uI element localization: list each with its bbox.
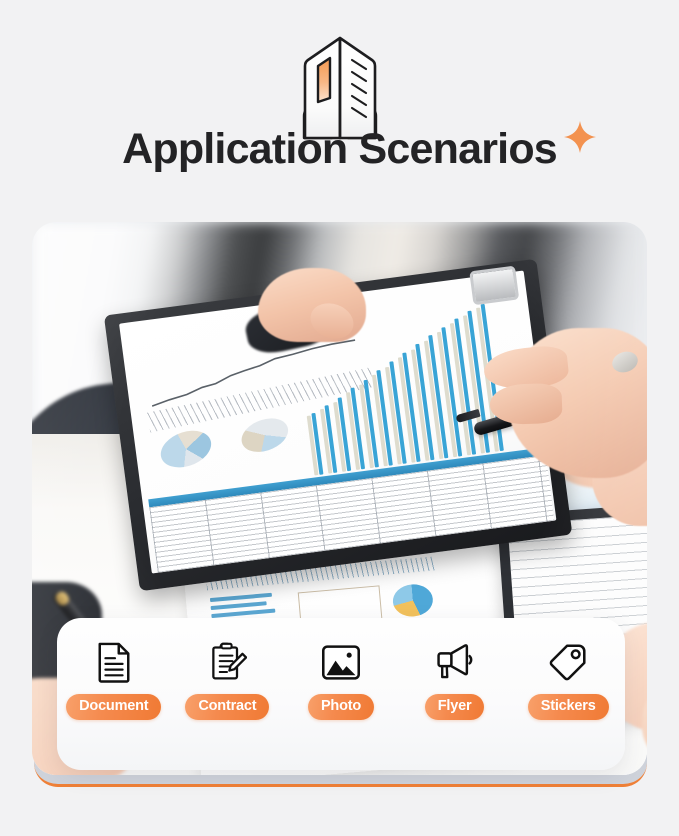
clipboard-pen-icon	[205, 640, 249, 684]
page-root: Application Scenarios	[0, 0, 679, 836]
tag-icon	[546, 640, 590, 684]
features-row: Document	[57, 640, 625, 720]
features-card: Document	[57, 618, 625, 770]
feature-label-photo[interactable]: Photo	[308, 694, 374, 720]
image-icon	[319, 640, 363, 684]
feature-label-stickers[interactable]: Stickers	[528, 694, 609, 720]
document-icon	[92, 640, 136, 684]
clipboard-pie-b	[238, 413, 291, 458]
feature-document[interactable]: Document	[62, 640, 166, 720]
clipboard-pie-a	[157, 425, 215, 474]
feature-contract[interactable]: Contract	[175, 640, 279, 720]
hand-with-pen	[472, 322, 647, 532]
report-pie-a	[392, 583, 435, 618]
header: Application Scenarios	[0, 0, 679, 210]
hand-holding-clipboard	[258, 260, 378, 360]
feature-label-document[interactable]: Document	[66, 694, 161, 720]
feature-photo[interactable]: Photo	[289, 640, 393, 720]
clipboard-clip	[469, 266, 519, 306]
sparkle-icon	[563, 120, 597, 154]
feature-flyer[interactable]: Flyer	[403, 640, 507, 720]
megaphone-icon	[433, 640, 477, 684]
feature-label-flyer[interactable]: Flyer	[425, 694, 485, 720]
feature-stickers[interactable]: Stickers	[516, 640, 620, 720]
page-title: Application Scenarios	[122, 128, 557, 171]
feature-label-contract[interactable]: Contract	[185, 694, 269, 720]
